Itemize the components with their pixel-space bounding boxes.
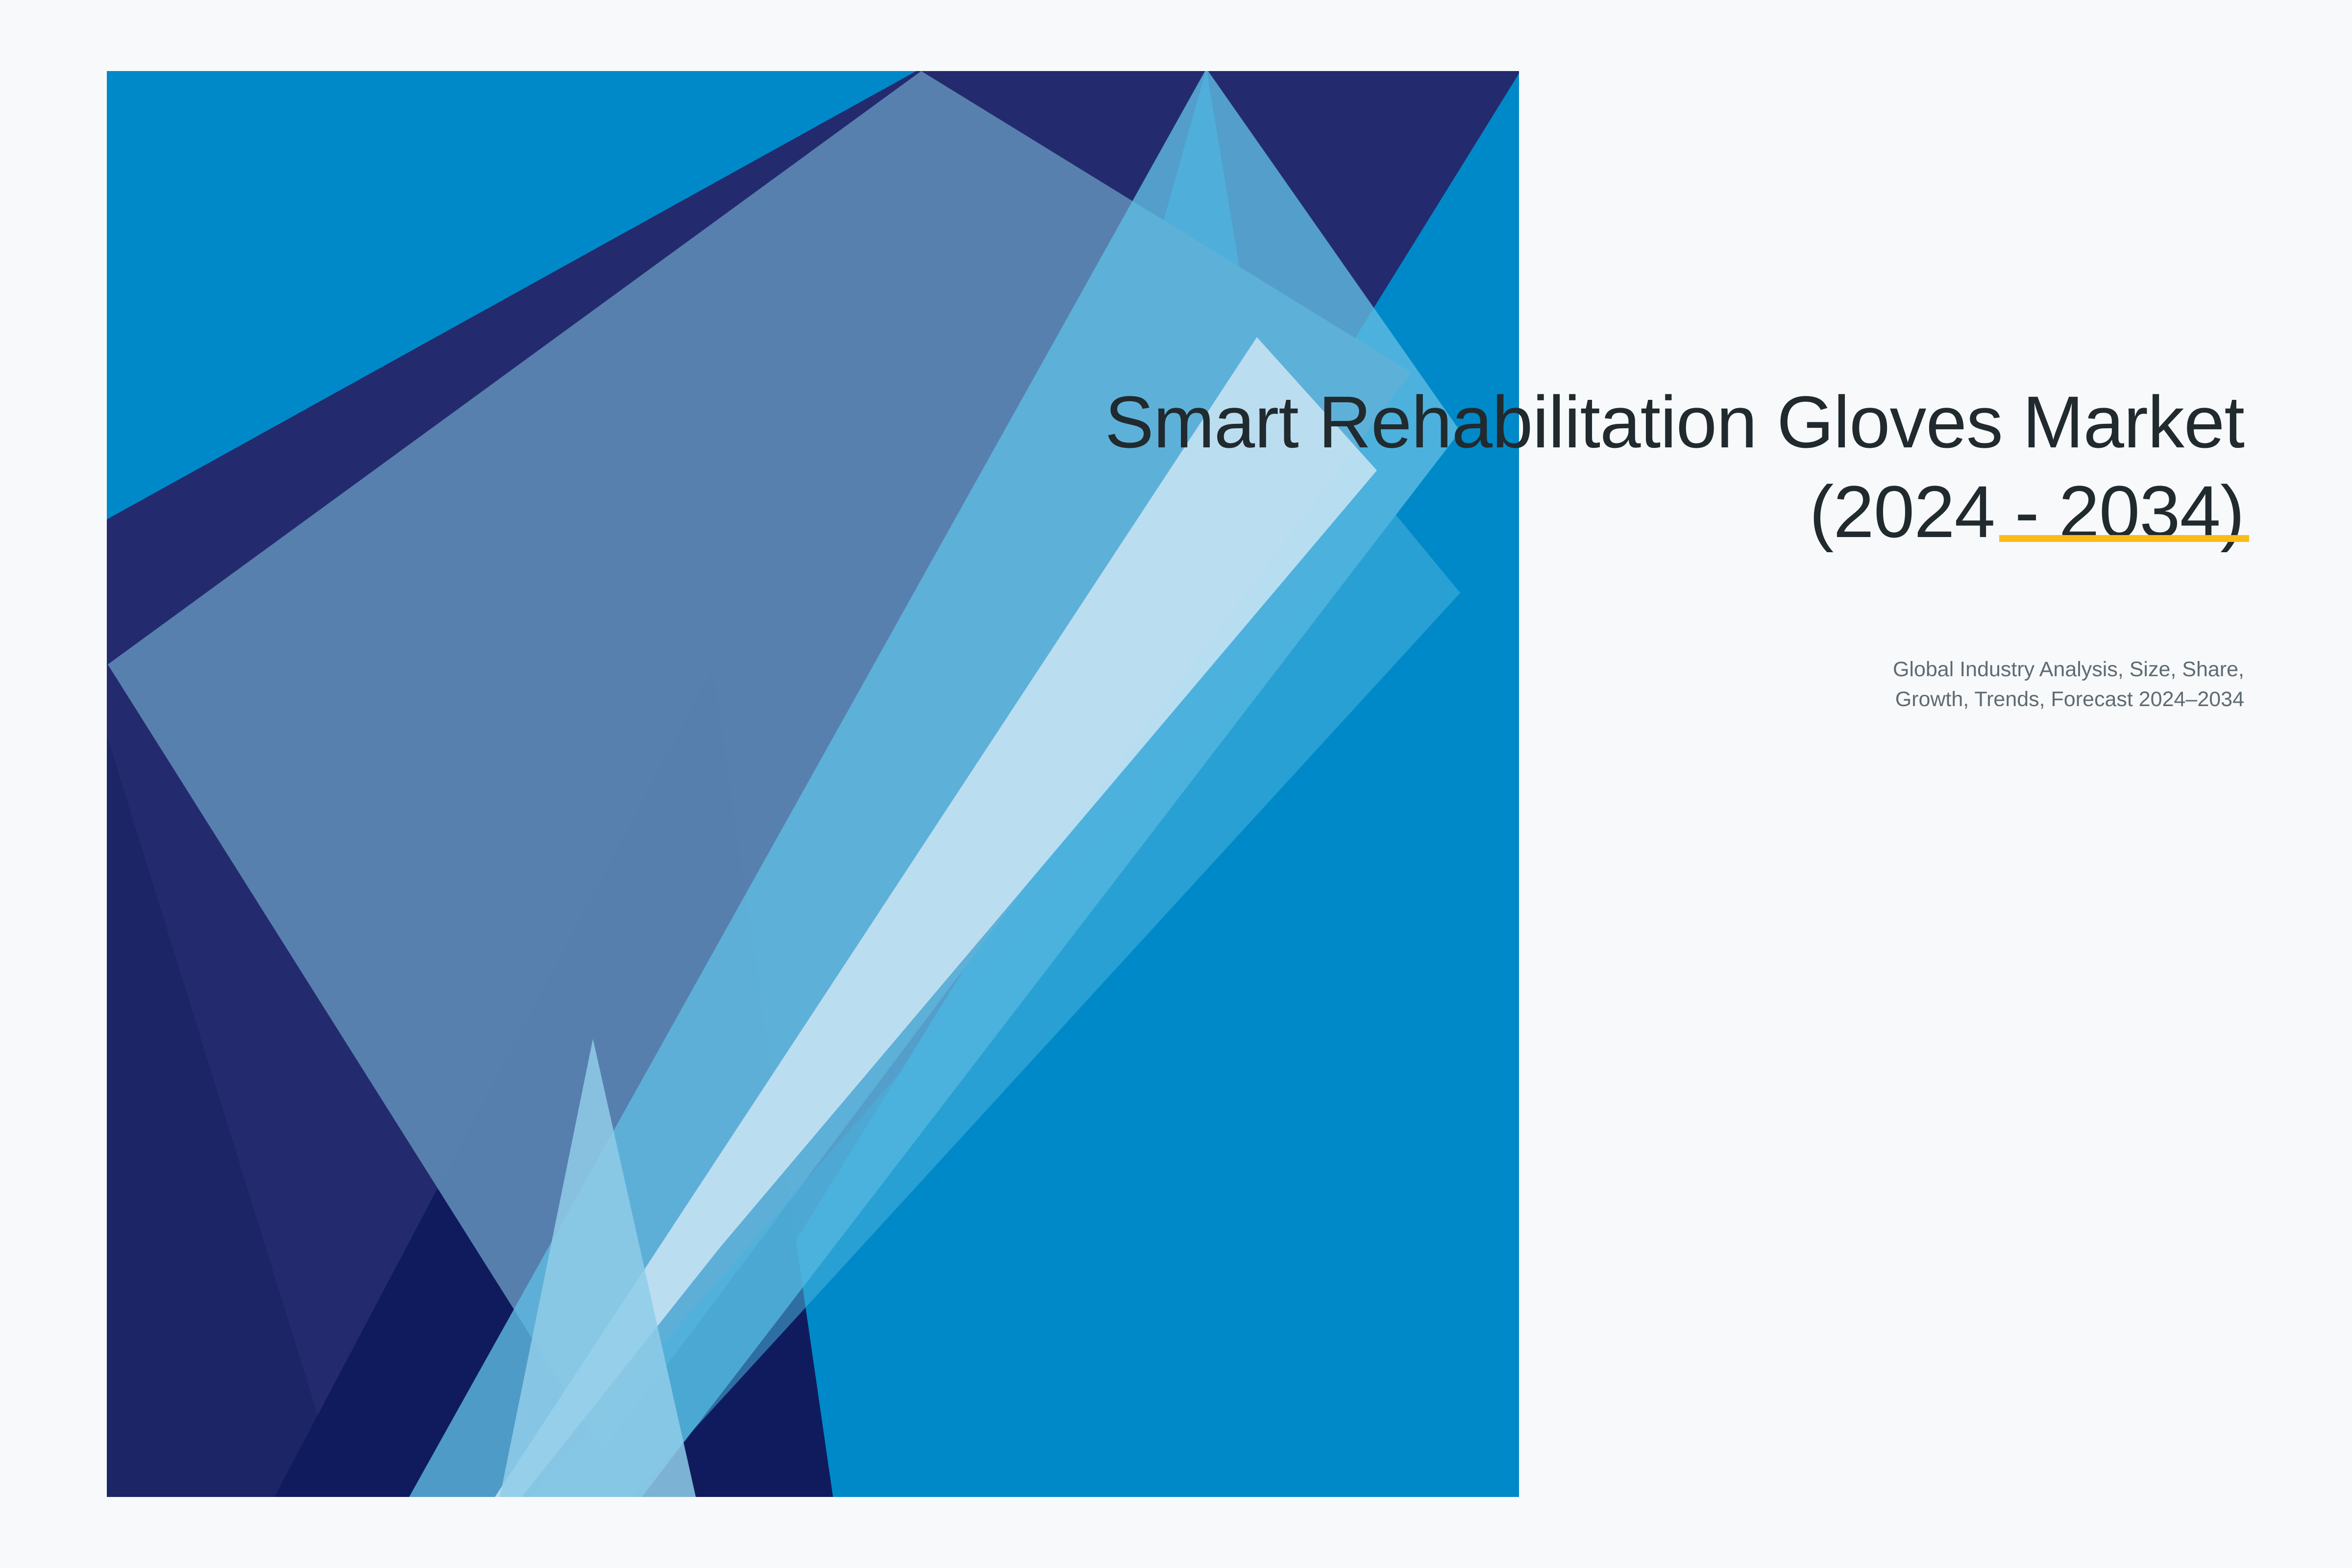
report-cover: Smart Rehabilitation Gloves Market(2024 …	[0, 0, 2352, 1568]
page-subtitle-line-2: Growth, Trends, Forecast 2024–2034	[1895, 687, 2244, 711]
page-subtitle-line-1: Global Industry Analysis, Size, Share,	[1893, 658, 2244, 681]
abstract-polygon-graphic	[0, 0, 2352, 1568]
page-subtitle: Global Industry Analysis, Size, Share,Gr…	[823, 557, 2244, 714]
cover-text-block: Smart Rehabilitation Gloves Market(2024 …	[823, 377, 2244, 714]
page-title-line-1: Smart Rehabilitation Gloves Market	[1105, 381, 2244, 463]
title-wrap: Smart Rehabilitation Gloves Market(2024 …	[823, 377, 2244, 557]
page-title: Smart Rehabilitation Gloves Market(2024 …	[823, 377, 2244, 557]
title-accent-underline	[1999, 535, 2249, 542]
